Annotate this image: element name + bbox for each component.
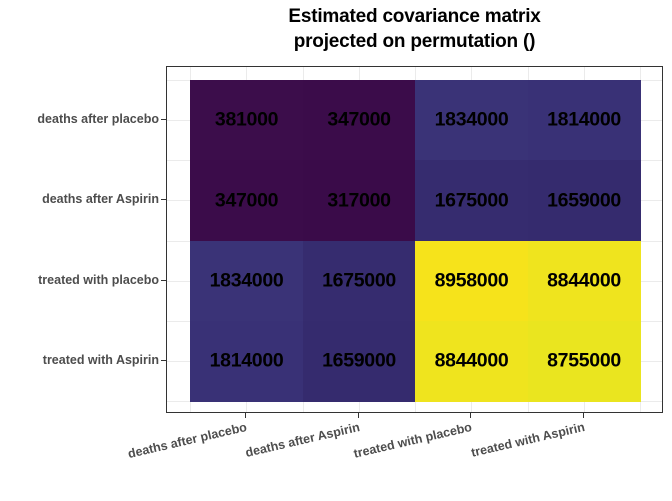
y-axis-label-0: deaths after placebo bbox=[37, 112, 159, 126]
heatmap-cell-value: 8755000 bbox=[528, 350, 641, 373]
heatmap-cell-value: 381000 bbox=[190, 109, 303, 132]
chart-title: Estimated covariance matrix projected on… bbox=[166, 4, 663, 54]
heatmap-cell-value: 347000 bbox=[190, 189, 303, 212]
heatmap-cell: 317000 bbox=[303, 160, 416, 241]
heatmap-cell: 1659000 bbox=[303, 321, 416, 402]
heatmap-cell: 1675000 bbox=[303, 241, 416, 322]
chart-title-line-1: Estimated covariance matrix bbox=[166, 4, 663, 29]
heatmap-cell: 8844000 bbox=[415, 321, 528, 402]
heatmap-cell: 1814000 bbox=[528, 80, 641, 161]
heatmap-cell-value: 8844000 bbox=[528, 269, 641, 292]
heatmap-cell-value: 1675000 bbox=[303, 269, 416, 292]
y-axis-tick-2 bbox=[161, 280, 166, 281]
heatmap-cell: 8958000 bbox=[415, 241, 528, 322]
heatmap-cell-value: 8958000 bbox=[415, 269, 528, 292]
heatmap-cell-value: 1814000 bbox=[190, 350, 303, 373]
heatmap-cell: 1659000 bbox=[528, 160, 641, 241]
heatmap-cell-value: 1675000 bbox=[415, 189, 528, 212]
x-axis-tick-2 bbox=[470, 413, 471, 418]
heatmap-cell: 1675000 bbox=[415, 160, 528, 241]
heatmap-figure: Estimated covariance matrix projected on… bbox=[0, 0, 672, 480]
y-axis-tick-3 bbox=[161, 360, 166, 361]
heatmap-cell-value: 8844000 bbox=[415, 350, 528, 373]
x-axis-tick-3 bbox=[583, 413, 584, 418]
heatmap-cell: 1834000 bbox=[190, 241, 303, 322]
plot-panel: 3810003470001834000181400034700031700016… bbox=[166, 66, 663, 413]
heatmap-cell-value: 347000 bbox=[303, 109, 416, 132]
heatmap-cell: 347000 bbox=[190, 160, 303, 241]
heatmap-cell-value: 317000 bbox=[303, 189, 416, 212]
heatmap-cell: 381000 bbox=[190, 80, 303, 161]
heatmap-cell-value: 1659000 bbox=[303, 350, 416, 373]
y-axis-label-2: treated with placebo bbox=[38, 273, 159, 287]
heatmap-cell: 1814000 bbox=[190, 321, 303, 402]
x-axis-tick-0 bbox=[245, 413, 246, 418]
heatmap-cell-value: 1814000 bbox=[528, 109, 641, 132]
heatmap-cell-value: 1659000 bbox=[528, 189, 641, 212]
y-axis-label-3: treated with Aspirin bbox=[43, 353, 159, 367]
y-axis-tick-1 bbox=[161, 199, 166, 200]
heatmap-tiles: 3810003470001834000181400034700031700016… bbox=[190, 80, 640, 401]
chart-title-line-2: projected on permutation () bbox=[166, 29, 663, 54]
x-axis-tick-1 bbox=[358, 413, 359, 418]
y-axis-tick-0 bbox=[161, 119, 166, 120]
heatmap-cell: 8755000 bbox=[528, 321, 641, 402]
heatmap-cell: 8844000 bbox=[528, 241, 641, 322]
heatmap-cell: 1834000 bbox=[415, 80, 528, 161]
heatmap-cell-value: 1834000 bbox=[415, 109, 528, 132]
heatmap-cell: 347000 bbox=[303, 80, 416, 161]
y-axis-label-1: deaths after Aspirin bbox=[42, 192, 159, 206]
heatmap-cell-value: 1834000 bbox=[190, 269, 303, 292]
